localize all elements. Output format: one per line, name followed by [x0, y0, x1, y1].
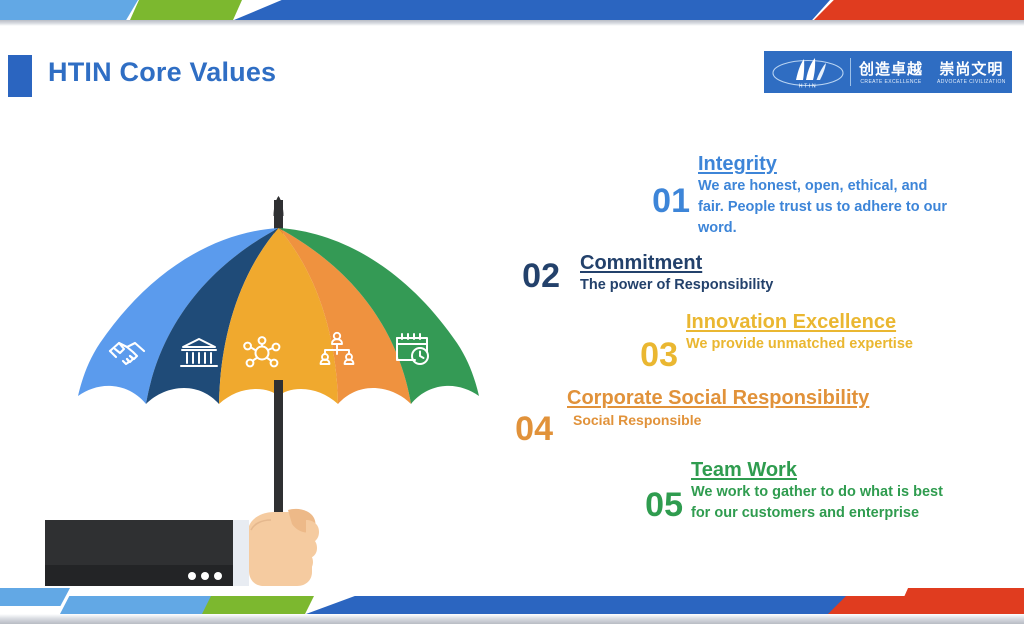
value-item-innovation-excellence[interactable]: 03 Innovation Excellence We provide unma…	[620, 310, 1024, 372]
company-logo: HTIN 创造卓越 CREATE EXCELLENCE 崇尚文明 ADVOCAT…	[764, 51, 1012, 93]
umbrella-tip	[274, 196, 284, 216]
umbrella-illustration	[40, 180, 510, 600]
value-item-commitment[interactable]: 02 Commitment The power of Responsibilit…	[500, 251, 1024, 296]
value-item-team-work[interactable]: 05 Team Work We work to gather to do wha…	[625, 458, 1024, 524]
value-desc-commitment: The power of Responsibility	[580, 275, 773, 296]
value-item-corporate-social-responsibility[interactable]: 04 Corporate Social Responsibility Socia…	[495, 386, 1024, 446]
svg-text:HTIN: HTIN	[799, 83, 818, 89]
value-title-corporate-social-responsibility: Corporate Social Responsibility	[567, 386, 869, 410]
value-title-team-work: Team Work	[691, 458, 953, 482]
top-bar-segment-green	[130, 0, 242, 20]
top-bar-segment-blue-light	[0, 0, 138, 20]
value-number-05: 05	[625, 488, 683, 522]
top-bar-segment-blue	[234, 0, 830, 20]
bottom-bar-segment-green	[202, 596, 314, 614]
value-title-integrity: Integrity	[698, 152, 948, 176]
value-number-01: 01	[630, 184, 690, 218]
value-number-04: 04	[495, 412, 553, 446]
top-decorative-bar	[0, 0, 1024, 26]
bottom-bar-segment-blue-light	[60, 596, 215, 614]
value-desc-corporate-social-responsibility: Social Responsible	[573, 410, 869, 431]
core-values-list: 01 Integrity We are honest, open, ethica…	[470, 152, 1024, 526]
value-title-commitment: Commitment	[580, 251, 773, 275]
value-desc-integrity: We are honest, open, ethical, and fair. …	[698, 176, 948, 239]
htin-logo-mark-icon: HTIN	[764, 51, 850, 93]
top-bar-segment-red	[814, 0, 1024, 20]
logo-slogan-1: 创造卓越 CREATE EXCELLENCE	[859, 61, 923, 86]
value-item-integrity[interactable]: 01 Integrity We are honest, open, ethica…	[630, 152, 1024, 239]
bottom-bar-segment-red	[828, 596, 1024, 614]
logo-slogan-1-en: CREATE EXCELLENCE	[860, 78, 921, 86]
slide-canvas: HTIN Core Values HTIN 创造卓越 CREATE EXCELL…	[0, 0, 1024, 624]
bottom-bar-segment-blue-light-left	[0, 588, 70, 606]
bottom-bar-shadow	[0, 614, 1024, 624]
value-number-03: 03	[620, 338, 678, 372]
hand-gripping-umbrella	[249, 509, 319, 586]
value-title-innovation-excellence: Innovation Excellence	[686, 310, 913, 334]
logo-slogans: 创造卓越 CREATE EXCELLENCE 崇尚文明 ADVOCATE CIV…	[859, 59, 1006, 86]
value-number-02: 02	[500, 259, 560, 293]
logo-slogan-2-en: ADVOCATE CIVILIZATION	[937, 78, 1006, 86]
title-accent-block	[8, 55, 32, 97]
logo-slogan-2: 崇尚文明 ADVOCATE CIVILIZATION	[937, 61, 1006, 86]
logo-slogan-1-cn: 创造卓越	[859, 61, 923, 78]
bottom-bar-segment-blue	[306, 596, 916, 614]
page-title: HTIN Core Values	[48, 57, 276, 88]
logo-divider	[850, 58, 851, 86]
bottom-decorative-bar	[0, 578, 1024, 624]
top-bar-shadow	[0, 20, 1024, 26]
shirt-cuff	[233, 520, 249, 586]
logo-slogan-2-cn: 崇尚文明	[939, 61, 1003, 78]
value-desc-team-work: We work to gather to do what is best for…	[691, 482, 953, 524]
value-desc-innovation-excellence: We provide unmatched expertise	[686, 334, 913, 355]
